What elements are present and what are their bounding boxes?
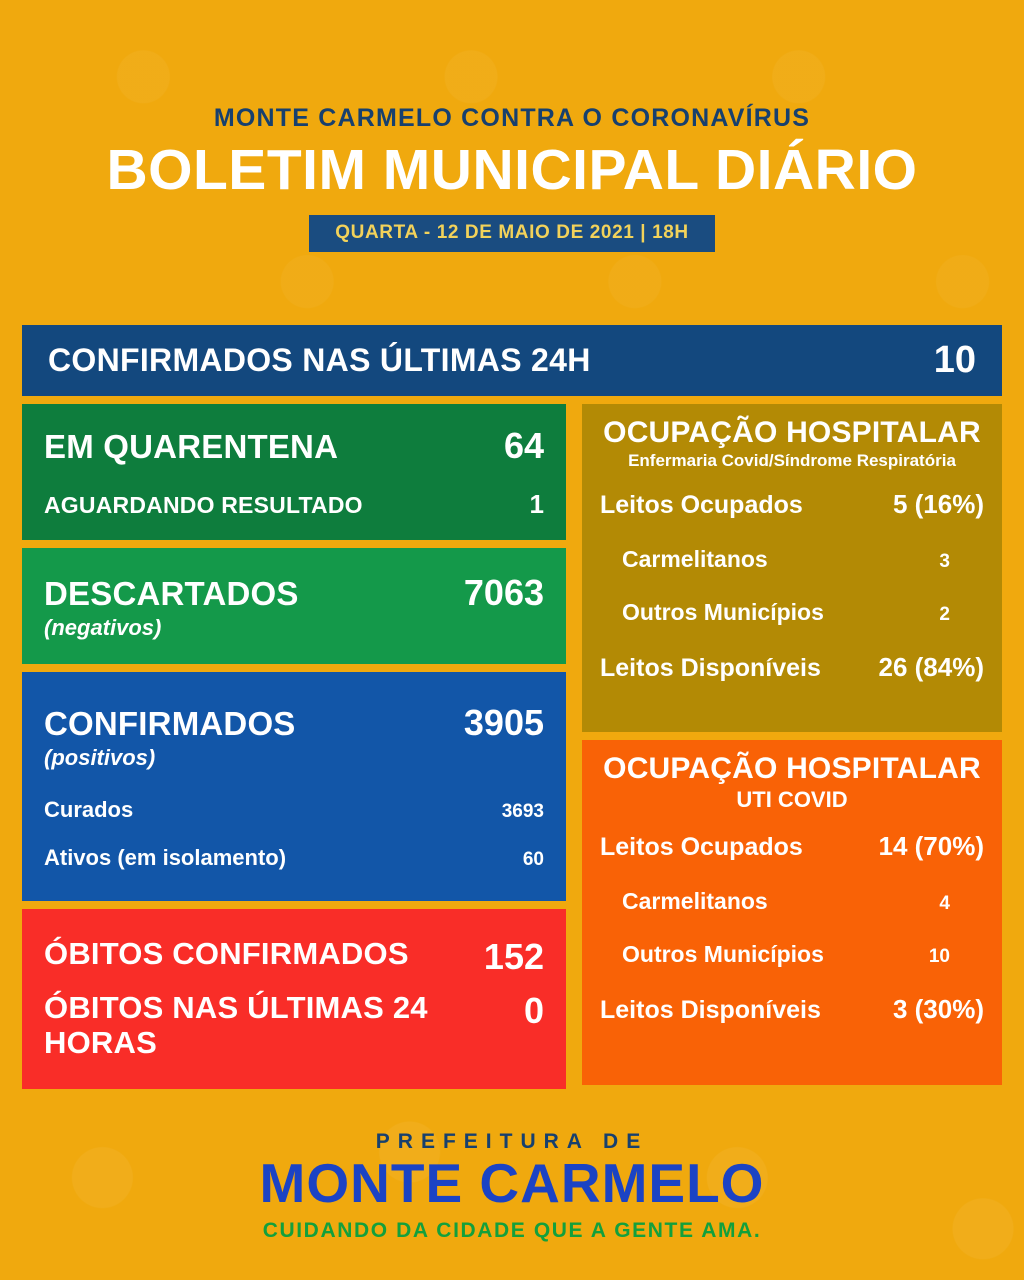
active-row: Ativos (em isolamento) 60 bbox=[44, 845, 544, 871]
ward-rows: Leitos Ocupados 5 (16%) Carmelitanos 3 O… bbox=[600, 489, 984, 683]
confirmed-24h-value: 10 bbox=[934, 339, 976, 382]
footer-prefecture: PREFEITURA DE bbox=[0, 1130, 1024, 1154]
icu-other-label: Outros Municípios bbox=[622, 941, 824, 968]
ward-occupied-value: 5 (16%) bbox=[893, 489, 984, 520]
icu-title: OCUPAÇÃO HOSPITALAR bbox=[600, 752, 984, 785]
icu-local-row: Carmelitanos 4 bbox=[600, 888, 984, 915]
cured-label: Curados bbox=[44, 797, 133, 823]
ward-title: OCUPAÇÃO HOSPITALAR bbox=[600, 416, 984, 449]
icu-other-row: Outros Municípios 10 bbox=[600, 941, 984, 968]
panel-hospital-icu: OCUPAÇÃO HOSPITALAR UTI COVID Leitos Ocu… bbox=[582, 740, 1002, 1085]
ward-occupied-row: Leitos Ocupados 5 (16%) bbox=[600, 489, 984, 520]
confirmed-sub-rows: Curados 3693 Ativos (em isolamento) 60 bbox=[44, 797, 544, 871]
confirmed-paren: (positivos) bbox=[44, 745, 544, 771]
panel-hospital-ward: OCUPAÇÃO HOSPITALAR Enfermaria Covid/Sín… bbox=[582, 404, 1002, 732]
icu-rows: Leitos Ocupados 14 (70%) Carmelitanos 4 … bbox=[600, 831, 984, 1025]
icu-local-label: Carmelitanos bbox=[622, 888, 768, 915]
ward-available-label: Leitos Disponíveis bbox=[600, 654, 821, 683]
ward-occupied-label: Leitos Ocupados bbox=[600, 491, 803, 520]
ward-local-label: Carmelitanos bbox=[622, 546, 768, 573]
header: MONTE CARMELO CONTRA O CORONAVÍRUS BOLET… bbox=[0, 0, 1024, 252]
confirmed-24h-label: CONFIRMADOS NAS ÚLTIMAS 24H bbox=[48, 342, 591, 379]
icu-available-row: Leitos Disponíveis 3 (30%) bbox=[600, 994, 984, 1025]
icu-subtitle: UTI COVID bbox=[600, 787, 984, 813]
panel-confirmed: CONFIRMADOS 3905 (positivos) Curados 369… bbox=[22, 672, 566, 901]
discarded-main-row: DESCARTADOS 7063 bbox=[44, 572, 544, 614]
deaths-24h-value: 0 bbox=[524, 991, 544, 1031]
confirmed-24h-bar: CONFIRMADOS NAS ÚLTIMAS 24H 10 bbox=[22, 325, 1002, 396]
panel-columns: EM QUARENTENA 64 AGUARDANDO RESULTADO 1 … bbox=[22, 404, 1002, 1089]
icu-available-label: Leitos Disponíveis bbox=[600, 996, 821, 1025]
footer-slogan: CUIDANDO DA CIDADE QUE A GENTE AMA. bbox=[0, 1219, 1024, 1243]
ward-other-value: 2 bbox=[939, 604, 950, 626]
page-title: BOLETIM MUNICIPAL DIÁRIO bbox=[0, 141, 1024, 201]
quarantine-value: 64 bbox=[504, 425, 544, 467]
deaths-total-label: ÓBITOS CONFIRMADOS bbox=[44, 937, 409, 972]
active-value: 60 bbox=[523, 849, 544, 871]
panel-discarded: DESCARTADOS 7063 (negativos) bbox=[22, 548, 566, 664]
icu-other-value: 10 bbox=[929, 946, 950, 968]
deaths-total-value: 152 bbox=[484, 937, 544, 977]
cured-value: 3693 bbox=[502, 801, 544, 823]
cured-row: Curados 3693 bbox=[44, 797, 544, 823]
confirmed-label: CONFIRMADOS bbox=[44, 705, 296, 743]
deaths-24h-label: ÓBITOS NAS ÚLTIMAS 24 HORAS bbox=[44, 991, 524, 1060]
ward-other-row: Outros Municípios 2 bbox=[600, 599, 984, 626]
icu-local-value: 4 bbox=[939, 893, 950, 915]
panel-deaths: ÓBITOS CONFIRMADOS 152 ÓBITOS NAS ÚLTIMA… bbox=[22, 909, 566, 1089]
ward-local-row: Carmelitanos 3 bbox=[600, 546, 984, 573]
icu-occupied-label: Leitos Ocupados bbox=[600, 833, 803, 862]
deaths-total-row: ÓBITOS CONFIRMADOS 152 bbox=[44, 937, 544, 977]
awaiting-result-row: AGUARDANDO RESULTADO 1 bbox=[44, 489, 544, 520]
bulletin-page: MONTE CARMELO CONTRA O CORONAVÍRUS BOLET… bbox=[0, 0, 1024, 1280]
stats-board: CONFIRMADOS NAS ÚLTIMAS 24H 10 EM QUAREN… bbox=[22, 325, 1002, 1089]
header-kicker: MONTE CARMELO CONTRA O CORONAVÍRUS bbox=[0, 104, 1024, 133]
icu-available-value: 3 (30%) bbox=[893, 994, 984, 1025]
confirmed-main-row: CONFIRMADOS 3905 bbox=[44, 702, 544, 744]
discarded-label: DESCARTADOS bbox=[44, 575, 299, 613]
discarded-paren: (negativos) bbox=[44, 615, 544, 641]
footer-city: MONTE CARMELO bbox=[0, 1156, 1024, 1211]
ward-other-label: Outros Municípios bbox=[622, 599, 824, 626]
ward-available-row: Leitos Disponíveis 26 (84%) bbox=[600, 652, 984, 683]
deaths-24h-row: ÓBITOS NAS ÚLTIMAS 24 HORAS 0 bbox=[44, 991, 544, 1060]
confirmed-value: 3905 bbox=[464, 702, 544, 744]
left-column: EM QUARENTENA 64 AGUARDANDO RESULTADO 1 … bbox=[22, 404, 566, 1089]
quarantine-main-row: EM QUARENTENA 64 bbox=[44, 425, 544, 467]
right-column: OCUPAÇÃO HOSPITALAR Enfermaria Covid/Sín… bbox=[582, 404, 1002, 1089]
icu-occupied-row: Leitos Ocupados 14 (70%) bbox=[600, 831, 984, 862]
discarded-value: 7063 bbox=[464, 572, 544, 614]
ward-subtitle: Enfermaria Covid/Síndrome Respiratória bbox=[600, 451, 984, 471]
icu-occupied-value: 14 (70%) bbox=[879, 831, 985, 862]
date-badge: QUARTA - 12 DE MAIO DE 2021 | 18H bbox=[309, 215, 714, 252]
footer-logo: PREFEITURA DE MONTE CARMELO CUIDANDO DA … bbox=[0, 1130, 1024, 1243]
quarantine-label: EM QUARENTENA bbox=[44, 428, 338, 466]
ward-local-value: 3 bbox=[939, 551, 950, 573]
awaiting-result-label: AGUARDANDO RESULTADO bbox=[44, 492, 363, 519]
panel-quarantine: EM QUARENTENA 64 AGUARDANDO RESULTADO 1 bbox=[22, 404, 566, 540]
ward-available-value: 26 (84%) bbox=[879, 652, 985, 683]
awaiting-result-value: 1 bbox=[530, 489, 544, 520]
active-label: Ativos (em isolamento) bbox=[44, 845, 286, 871]
